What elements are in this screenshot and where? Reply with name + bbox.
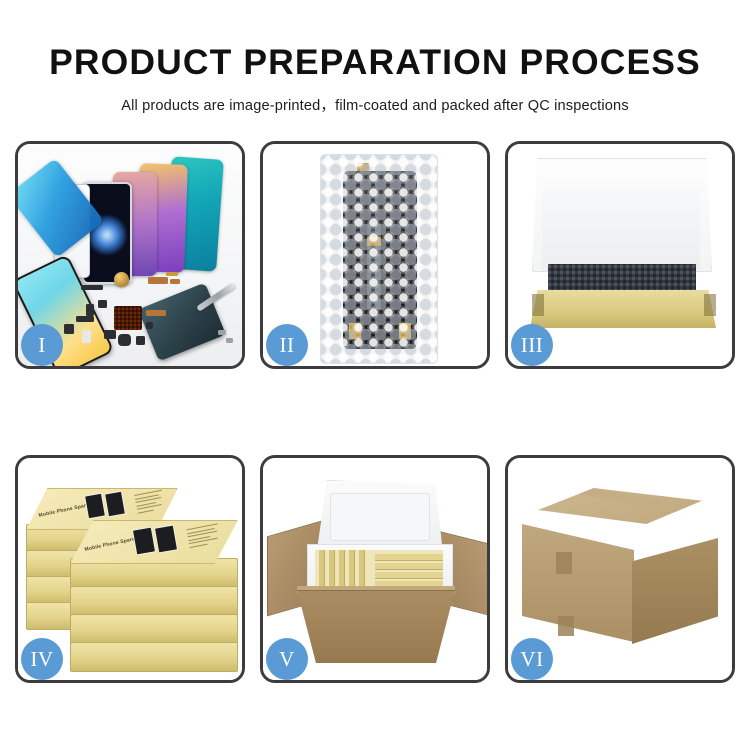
spare-part	[226, 338, 233, 343]
step-badge: III	[511, 324, 553, 366]
spare-part	[64, 324, 74, 334]
spare-part	[166, 272, 178, 276]
step-badge: II	[266, 324, 308, 366]
step-badge: I	[21, 324, 63, 366]
spare-part	[170, 279, 180, 284]
spare-part	[118, 334, 131, 346]
process-step-3[interactable]: III	[505, 141, 735, 369]
box-screen-image	[84, 493, 106, 520]
sealed-carton	[522, 488, 718, 648]
process-grid: I II III	[15, 141, 736, 683]
step-badge: V	[266, 638, 308, 680]
copper-grid-part	[114, 306, 142, 330]
step-badge: IV	[21, 638, 63, 680]
spare-part	[98, 300, 107, 308]
process-step-1[interactable]: I	[15, 141, 245, 369]
spare-part	[76, 316, 94, 322]
carton-front-face	[522, 524, 634, 642]
spare-part	[81, 285, 103, 290]
carton-side-face	[632, 538, 718, 644]
box-screen-image	[132, 526, 156, 555]
spare-part	[148, 277, 168, 284]
carton-body	[297, 590, 455, 663]
stacked-box	[70, 642, 238, 672]
speaker-module-icon	[114, 272, 129, 287]
box-stack: Mobile Phone Spare Parts Mobile Phone Sp…	[26, 478, 242, 668]
process-step-2[interactable]: II	[260, 141, 490, 369]
step-2-image: II	[263, 144, 487, 366]
process-step-6[interactable]: VI	[505, 455, 735, 683]
carton-tape	[556, 552, 572, 574]
spare-part	[136, 336, 145, 345]
yellow-box-tray	[530, 290, 716, 328]
step-badge: VI	[511, 638, 553, 680]
step-3-image: III	[508, 144, 732, 366]
spare-part	[86, 304, 94, 316]
step-4-image: Mobile Phone Spare Parts Mobile Phone Sp…	[18, 458, 242, 680]
yellow-boxes-inside	[315, 550, 443, 590]
carton-seam	[561, 482, 710, 519]
box-lid-inner	[542, 188, 700, 270]
page-header: PRODUCT PREPARATION PROCESS All products…	[0, 0, 750, 115]
bubble-texture-shadow	[321, 155, 437, 363]
bubble-wrap-bag	[320, 154, 438, 364]
box-screen-image	[154, 524, 178, 553]
spare-part	[218, 330, 226, 335]
stacked-box	[70, 614, 238, 644]
spare-part	[104, 330, 116, 339]
box-screen-image	[104, 491, 126, 518]
process-step-5[interactable]: V	[260, 455, 490, 683]
page-title: PRODUCT PREPARATION PROCESS	[0, 0, 750, 81]
carton-tape	[558, 616, 574, 636]
page-subtitle: All products are image-printed，film-coat…	[0, 81, 750, 115]
foam-lid	[317, 480, 443, 554]
spare-part	[146, 322, 153, 329]
spare-part	[146, 310, 166, 316]
spare-part	[82, 330, 91, 343]
step-5-image: V	[263, 458, 487, 680]
step-6-image: VI	[508, 458, 732, 680]
stacked-box	[70, 586, 238, 616]
process-step-4[interactable]: Mobile Phone Spare Parts Mobile Phone Sp…	[15, 455, 245, 683]
step-1-image: I	[18, 144, 242, 366]
